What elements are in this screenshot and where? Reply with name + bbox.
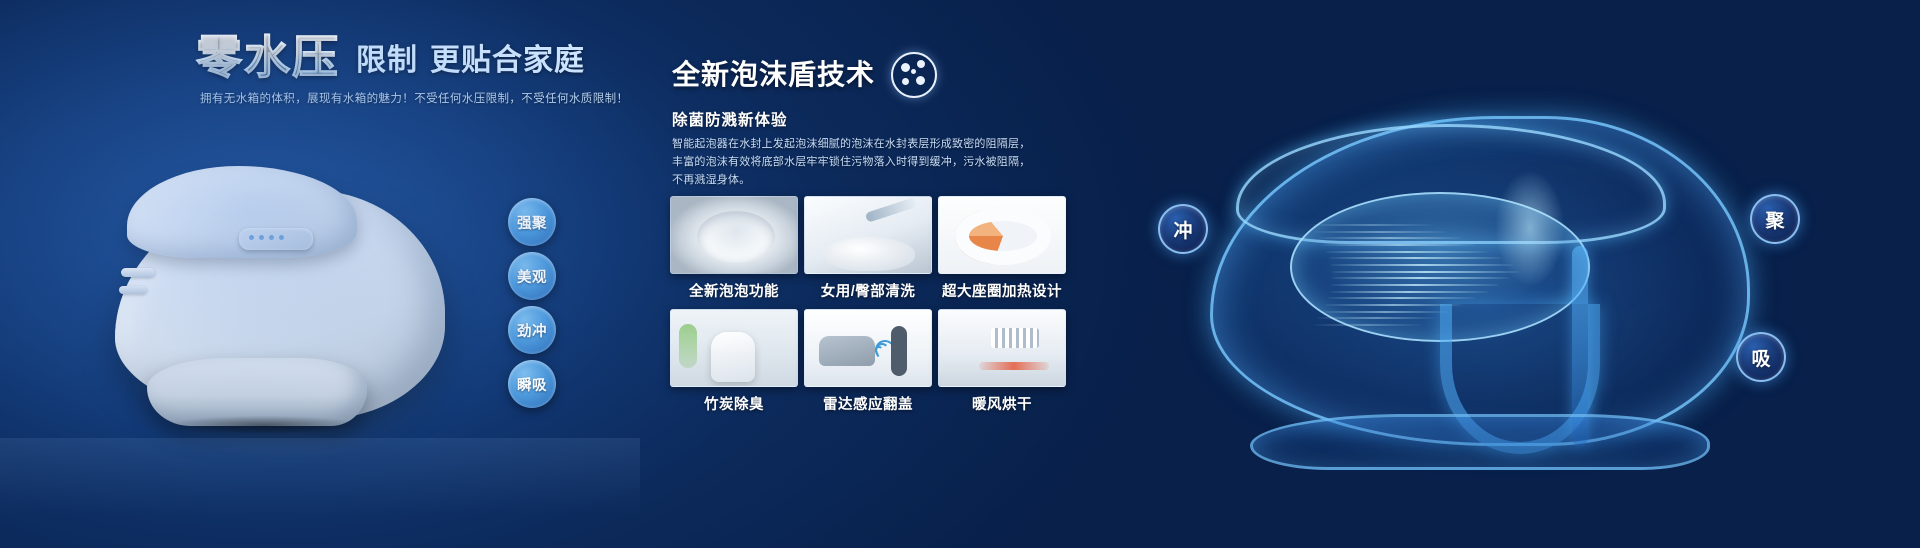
badge-label: 瞬吸 [517,374,547,395]
center-subtitle: 除菌防溅新体验 [672,108,788,130]
smart-toilet-photo [85,120,485,450]
badge-label: 冲 [1173,216,1192,243]
headline: 零水压 限制更贴合家庭 [196,34,585,81]
control-dots-icon [249,235,284,240]
badge-label: 聚 [1765,206,1784,233]
feature-cell[interactable]: 女用/臀部清洗 [804,196,932,301]
headline-main-text: 零水压 [196,34,340,81]
badge-jingchong: 劲冲 [508,306,556,354]
xray-toilet-cutaway: 冲 聚 吸 [1140,96,1840,526]
feature-caption: 竹炭除臭 [670,393,798,414]
nozzle-wash-photo [804,196,932,274]
heated-seat-ring-photo [938,196,1066,274]
feature-caption: 暖风烘干 [938,393,1066,414]
product-banner: 零水压 限制更贴合家庭 拥有无水箱的体积，展现有水箱的魅力！不受任何水压限制，不… [0,0,1920,548]
toilet-control-panel [239,228,313,250]
toilet-bowl-foam-photo [670,196,798,274]
badge-xi: 吸 [1736,332,1786,382]
center-title: 全新泡沫盾技术 [672,61,875,89]
foam-bubbles-icon [891,52,937,98]
radar-auto-lid-photo [804,309,932,387]
feature-cell[interactable]: 全新泡泡功能 [670,196,798,301]
center-body-line: 智能起泡器在水封上发起泡沫细腻的泡沫在水封表层形成致密的阻隔层， [672,135,1002,153]
xray-base [1250,414,1710,470]
headline-fine-print: 拥有无水箱的体积，展现有水箱的魅力！不受任何水压限制，不受任何水质限制！ [200,90,628,106]
center-body-line: 不再溅湿身体。 [672,171,1002,189]
feature-caption: 全新泡泡功能 [670,280,798,301]
headline-sub-text: 限制更贴合家庭 [356,46,585,81]
feature-caption: 超大座圈加热设计 [938,280,1066,301]
headline-sub-a: 限制 [356,44,418,77]
feature-caption: 女用/臀部清洗 [804,280,932,301]
right-panel: JTaccord 吉田 · 雅格 冲 聚 吸 [1100,0,1920,548]
center-body-text: 智能起泡器在水封上发起泡沫细腻的泡沫在水封表层形成致密的阻隔层， 丰富的泡沫有效… [672,135,1002,189]
bamboo-charcoal-deodorize-photo [670,309,798,387]
radar-wave-icon [875,336,893,364]
toilet-side-button-2 [119,286,147,294]
feature-cell[interactable]: 暖风烘干 [938,309,1066,414]
feature-grid: 全新泡泡功能 女用/臀部清洗 超大座圈加热设计 竹炭除臭 雷达感应翻盖 [670,196,1066,414]
center-panel: 全新泡沫盾技术 除菌防溅新体验 智能起泡器在水封上发起泡沫细腻的泡沫在水封表层形… [640,0,1100,548]
badge-label: 强聚 [517,212,547,233]
badge-label: 劲冲 [517,320,547,341]
center-title-row: 全新泡沫盾技术 [672,52,937,98]
toilet-drop-shadow [129,412,399,438]
feature-cell[interactable]: 超大座圈加热设计 [938,196,1066,301]
badge-label: 美观 [517,266,547,287]
toilet-side-button-1 [121,268,155,277]
badge-label: 吸 [1751,344,1770,371]
badge-shunxi: 瞬吸 [508,360,556,408]
floor-reflection [0,438,640,548]
left-badge-column: 强聚 美观 劲冲 瞬吸 [508,198,564,414]
center-body-line: 丰富的泡沫有效将底部水层牢牢锁住污物落入时得到缓冲，污水被阻隔， [672,153,1002,171]
badge-chong: 冲 [1158,204,1208,254]
warm-air-dryer-photo [938,309,1066,387]
badge-qiangju: 强聚 [508,198,556,246]
feature-cell[interactable]: 竹炭除臭 [670,309,798,414]
left-panel: 零水压 限制更贴合家庭 拥有无水箱的体积，展现有水箱的魅力！不受任何水压限制，不… [0,0,640,548]
headline-sub-b: 更贴合家庭 [430,44,585,77]
feature-cell[interactable]: 雷达感应翻盖 [804,309,932,414]
badge-meiguan: 美观 [508,252,556,300]
feature-caption: 雷达感应翻盖 [804,393,932,414]
badge-ju: 聚 [1750,194,1800,244]
